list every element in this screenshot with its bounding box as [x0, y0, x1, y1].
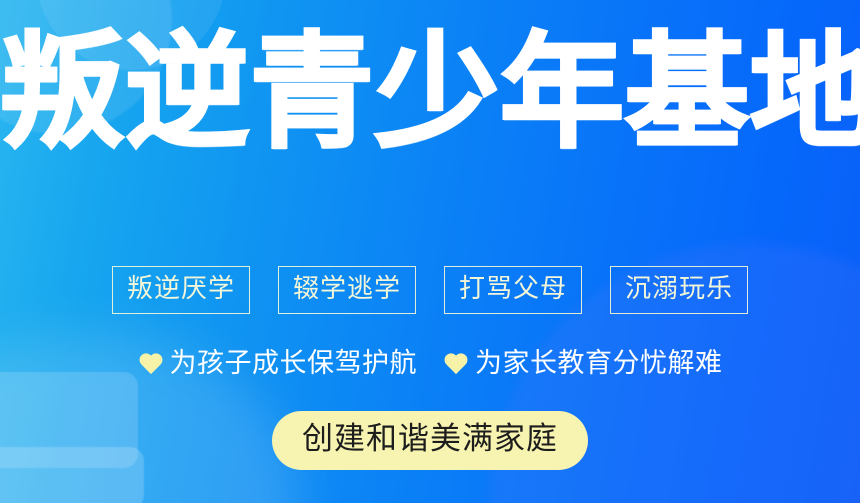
slogan-item-2: 为家长教育分忧解难 [443, 350, 723, 377]
cta-button[interactable]: 创建和谐美满家庭 [272, 411, 588, 470]
slogan-label-2: 为家长教育分忧解难 [475, 350, 723, 377]
cta-container: 创建和谐美满家庭 [0, 411, 860, 470]
heart-icon [443, 351, 469, 377]
promo-banner: 叛逆青少年基地 叛逆厌学 辍学逃学 打骂父母 沉溺玩乐 为孩子成长保驾护航 为家… [0, 0, 860, 503]
tag-item-3[interactable]: 打骂父母 [444, 266, 582, 314]
tag-item-4[interactable]: 沉溺玩乐 [610, 266, 748, 314]
tag-item-2[interactable]: 辍学逃学 [278, 266, 416, 314]
tag-list: 叛逆厌学 辍学逃学 打骂父母 沉溺玩乐 [0, 266, 860, 314]
slogan-item-1: 为孩子成长保驾护航 [138, 350, 418, 377]
heart-icon [138, 351, 164, 377]
slogan-label-1: 为孩子成长保驾护航 [170, 350, 418, 377]
banner-content: 叛逆青少年基地 叛逆厌学 辍学逃学 打骂父母 沉溺玩乐 为孩子成长保驾护航 为家… [0, 0, 860, 503]
slogan-list: 为孩子成长保驾护航 为家长教育分忧解难 [0, 350, 860, 377]
banner-headline: 叛逆青少年基地 [0, 18, 860, 168]
tag-item-1[interactable]: 叛逆厌学 [112, 266, 250, 314]
